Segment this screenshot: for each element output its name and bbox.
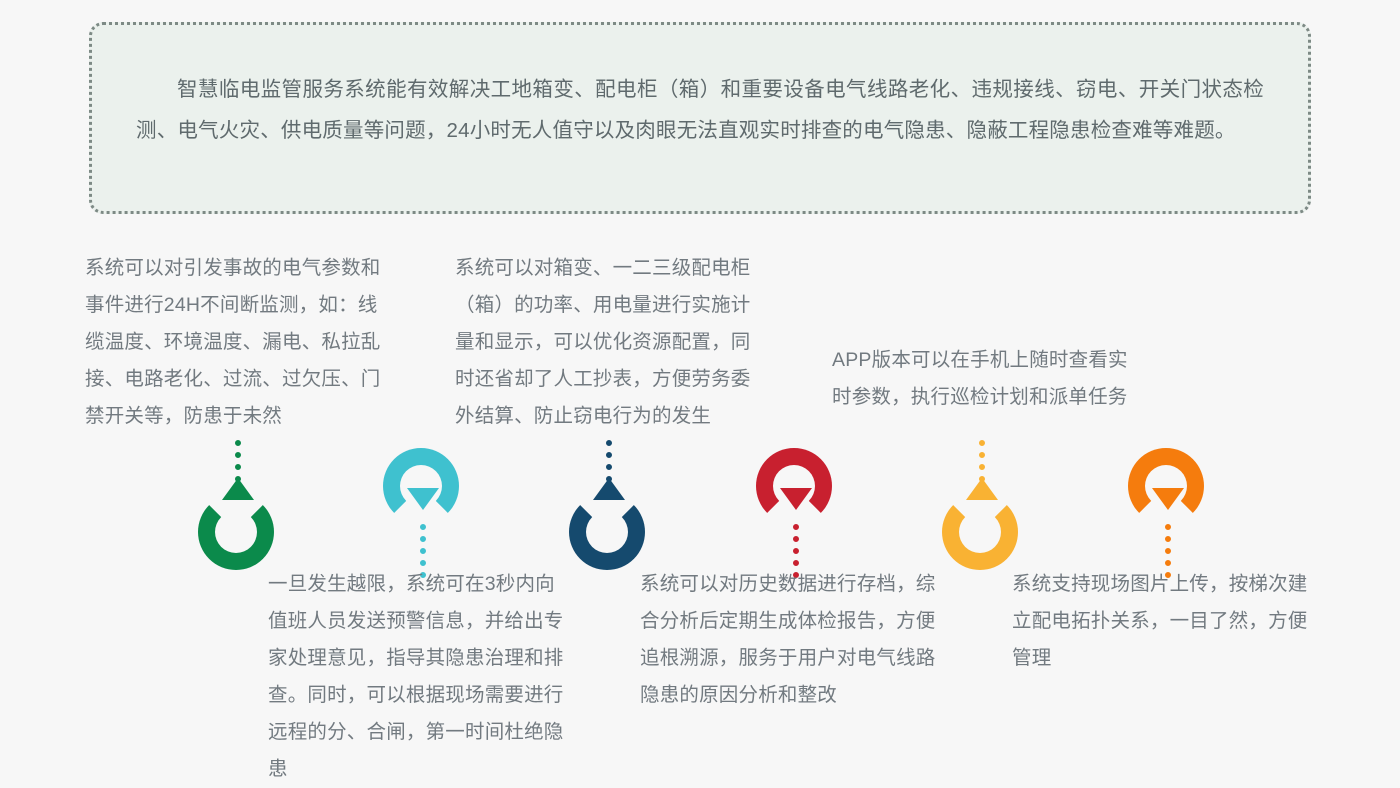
marker-arc bbox=[1128, 448, 1204, 524]
marker-yellow-up bbox=[934, 440, 1026, 570]
marker-dotted-stem bbox=[606, 440, 612, 482]
feature-caption-monitoring: 系统可以对引发事故的电气参数和事件进行24H不间断监测，如：线缆温度、环境温度、… bbox=[85, 250, 385, 435]
feature-caption-mobile-app: APP版本可以在手机上随时查看实时参数，执行巡检计划和派单任务 bbox=[832, 342, 1132, 416]
marker-arc bbox=[756, 448, 832, 524]
marker-arc bbox=[198, 494, 274, 570]
intro-banner: 智慧临电监管服务系统能有效解决工地箱变、配电柜（箱）和重要设备电气线路老化、违规… bbox=[89, 22, 1311, 214]
marker-red-down bbox=[748, 448, 840, 578]
feature-caption-archiving: 系统可以对历史数据进行存档，综合分析后定期生成体检报告，方便追根溯源，服务于用户… bbox=[640, 566, 942, 714]
feature-caption-alerting: 一旦发生越限，系统可在3秒内向值班人员发送预警信息，并给出专家处理意见，指导其隐… bbox=[268, 566, 570, 788]
marker-cyan-down bbox=[375, 448, 467, 578]
marker-navy-up bbox=[561, 440, 653, 570]
marker-triangle-down-icon bbox=[407, 488, 439, 510]
feature-caption-topology: 系统支持现场图片上传，按梯次建立配电拓扑关系，一目了然，方便管理 bbox=[1012, 566, 1312, 677]
marker-triangle-down-icon bbox=[780, 488, 812, 510]
marker-triangle-down-icon bbox=[1152, 488, 1184, 510]
marker-orange-down bbox=[1120, 448, 1212, 578]
intro-paragraph: 智慧临电监管服务系统能有效解决工地箱变、配电柜（箱）和重要设备电气线路老化、违规… bbox=[136, 69, 1264, 151]
marker-arc bbox=[383, 448, 459, 524]
marker-green-up bbox=[190, 440, 282, 570]
marker-arc bbox=[569, 494, 645, 570]
marker-triangle-up-icon bbox=[222, 478, 254, 500]
marker-dotted-stem bbox=[979, 440, 985, 482]
marker-dotted-stem bbox=[235, 440, 241, 482]
feature-caption-metering: 系统可以对箱变、一二三级配电柜（箱）的功率、用电量进行实施计量和显示，可以优化资… bbox=[455, 250, 753, 435]
marker-triangle-up-icon bbox=[966, 478, 998, 500]
marker-triangle-up-icon bbox=[593, 478, 625, 500]
marker-arc bbox=[942, 494, 1018, 570]
